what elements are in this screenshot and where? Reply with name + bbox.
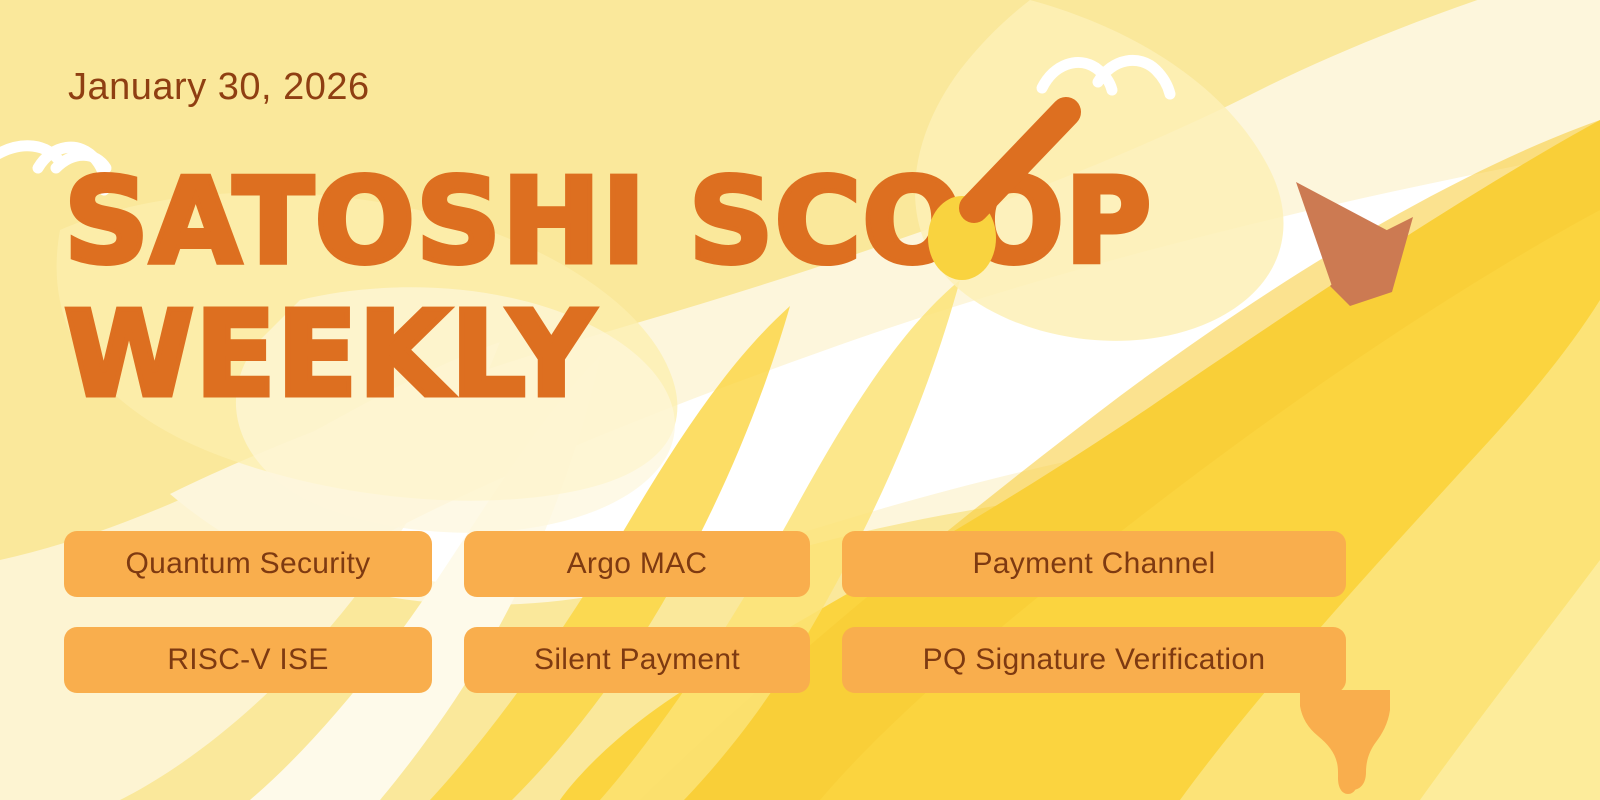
topic-tag[interactable]: Payment Channel (842, 531, 1346, 597)
page-title: SATOSHI SCOOP WEEKLY (64, 152, 1314, 424)
topic-tag[interactable]: Silent Payment (464, 627, 810, 693)
topic-tag[interactable]: Argo MAC (464, 531, 810, 597)
drip-tail (1338, 736, 1358, 794)
paint-drip-icon (1300, 690, 1390, 800)
issue-date: January 30, 2026 (68, 66, 370, 109)
title-line-2: WEEKLY (64, 285, 1314, 424)
drip-blob (1300, 690, 1390, 790)
topic-tag[interactable]: RISC-V ISE (64, 627, 432, 693)
topic-tag[interactable]: PQ Signature Verification (842, 627, 1346, 693)
title-line-1: SATOSHI SCOOP (64, 152, 1314, 291)
banner-content: January 30, 2026 SATOSHI SCOOP WEEKLY Qu… (0, 0, 1600, 800)
topic-tag-list: Quantum Security Argo MAC Payment Channe… (64, 531, 1346, 693)
newsletter-banner: January 30, 2026 SATOSHI SCOOP WEEKLY Qu… (0, 0, 1600, 800)
topic-tag[interactable]: Quantum Security (64, 531, 432, 597)
